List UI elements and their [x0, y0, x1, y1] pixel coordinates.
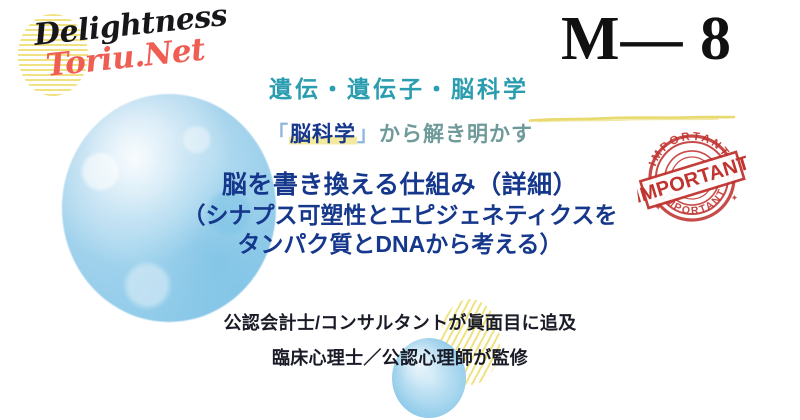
- important-stamp-icon: IMPORTANT IMPORTANT IMPORTANT ✦ ✦: [630, 120, 754, 237]
- module-code-badge: M— 8: [561, 8, 732, 70]
- footer-credits: 公認会計士/コンサルタントが眞面目に追及 臨床心理士／公認心理師が監修: [0, 306, 800, 376]
- subhead-bracket-close: 」: [357, 123, 379, 146]
- thumbnail-canvas: Delightness Toriu.Net M— 8 遺伝・遺伝子・脳科学 「脳…: [0, 0, 800, 420]
- subhead-highlight: 脳科学: [289, 123, 357, 146]
- important-stamp: IMPORTANT IMPORTANT IMPORTANT ✦ ✦: [630, 120, 754, 237]
- svg-text:✦: ✦: [654, 202, 663, 213]
- svg-text:✦: ✦: [730, 192, 739, 203]
- footer-credit-line2: 臨床心理士／公認心理師が監修: [0, 341, 800, 376]
- main-title-line3: タンパク質とDNAから考える）: [0, 230, 800, 259]
- brush-stroke-decoration: [528, 110, 736, 118]
- footer-credit-line1: 公認会計士/コンサルタントが眞面目に追及: [0, 306, 800, 341]
- subhead-bracket-open: 「: [267, 123, 289, 146]
- kicker-text: 遺伝・遺伝子・脳科学: [0, 70, 799, 104]
- subhead-tail: から解き明かす: [379, 123, 533, 146]
